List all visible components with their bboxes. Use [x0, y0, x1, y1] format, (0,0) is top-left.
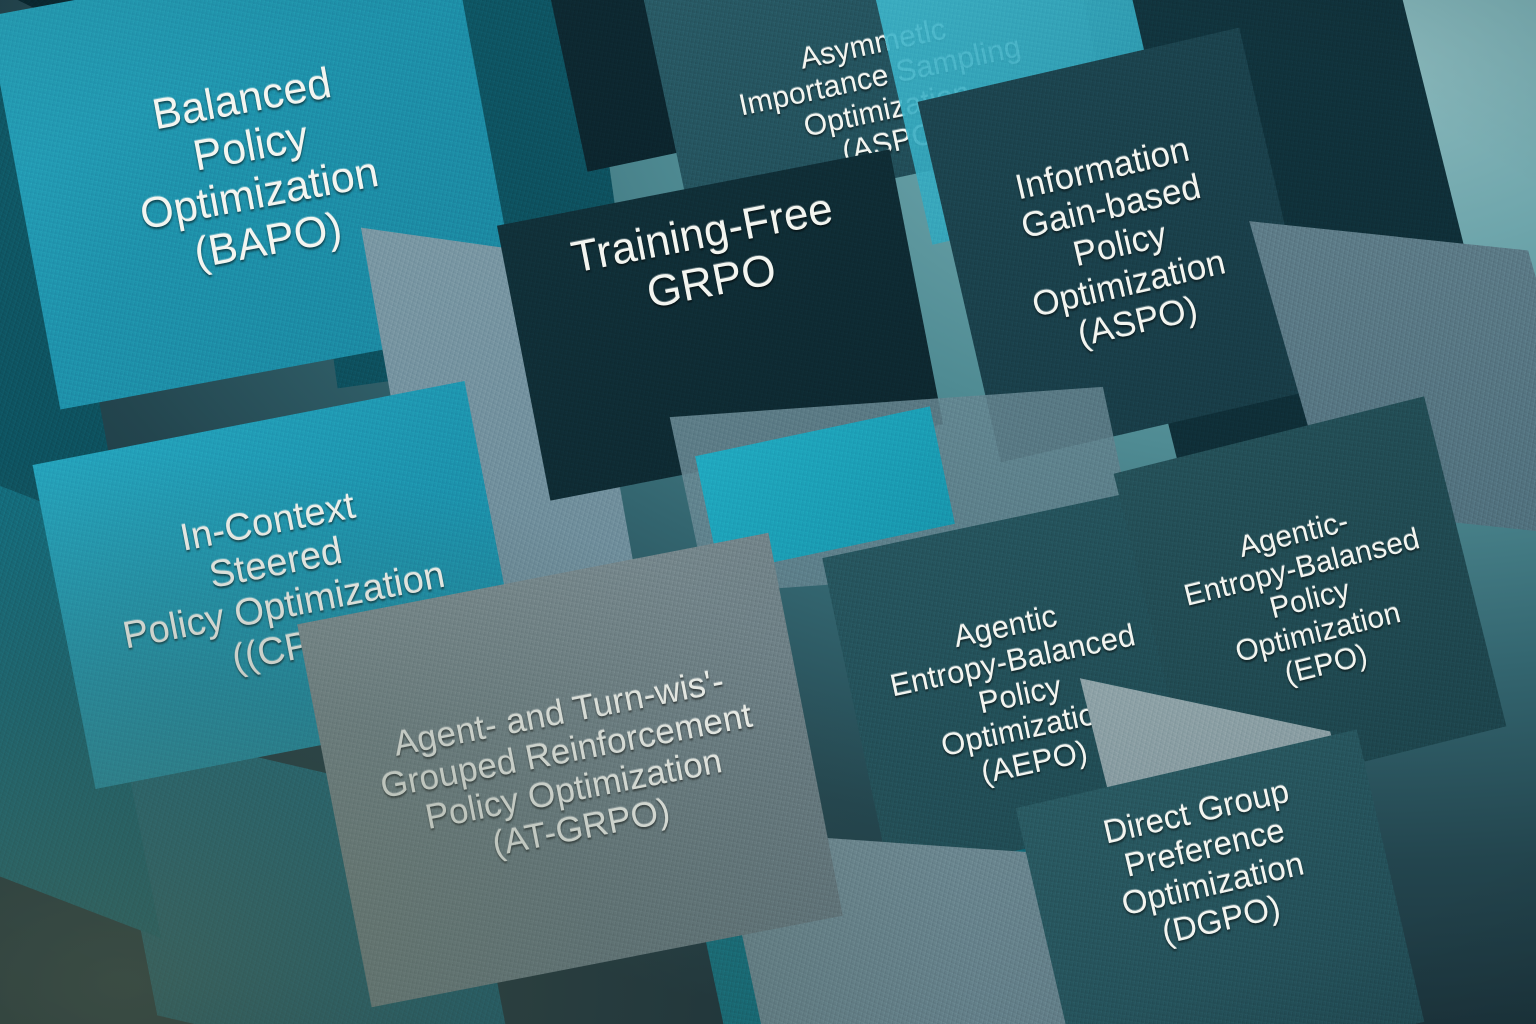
cube-collage-scene: Balanced Policy Optimization (BAPO) Asym…: [0, 0, 1536, 1024]
